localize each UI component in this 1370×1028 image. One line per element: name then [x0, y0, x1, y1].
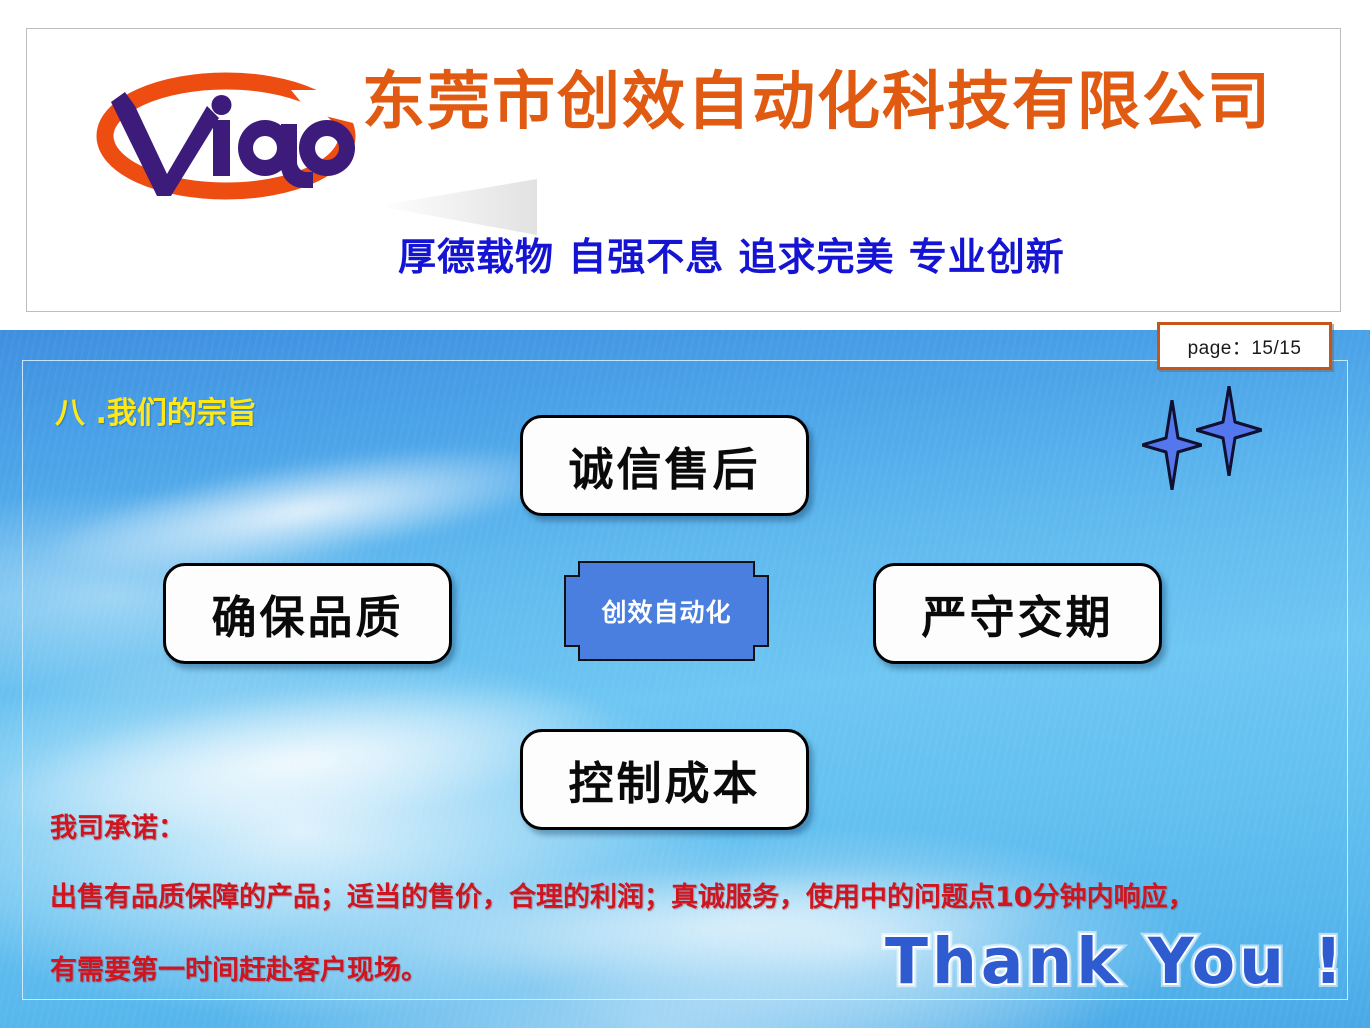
sparkle-star-icon-2	[1196, 386, 1262, 476]
section-heading: 八 .我们的宗旨	[55, 388, 257, 432]
diagram-center-label: 创效自动化	[601, 593, 731, 629]
watermark-arrow-icon	[377, 179, 537, 235]
diagram-node-left-label: 确保品质	[211, 581, 403, 646]
diagram-node-top-label: 诚信售后	[568, 433, 760, 498]
diagram-node-top[interactable]: 诚信售后	[520, 415, 809, 516]
diagram-node-bottom[interactable]: 控制成本	[520, 729, 809, 830]
promise-heading: 我司承诺：	[50, 806, 185, 845]
promise-line-1: 出售有品质保障的产品；适当的售价，合理的利润；真诚服务，使用中的问题点10分钟内…	[50, 875, 1195, 914]
promise-line-1-part-b: 分钟内响应，	[1033, 882, 1195, 913]
promise-response-minutes: 10	[995, 882, 1033, 913]
page-indicator-label: page：15/15	[1188, 333, 1302, 360]
viao-logo	[95, 72, 357, 200]
promise-line-2: 有需要第一时间赶赴客户现场。	[50, 948, 428, 987]
diagram-node-bottom-label: 控制成本	[568, 747, 760, 812]
diagram-node-right-label: 严守交期	[921, 581, 1113, 646]
thank-you-text: Thank You !	[885, 925, 1347, 998]
sparkle-star-icon	[1142, 400, 1202, 490]
diagram-node-left[interactable]: 确保品质	[163, 563, 452, 664]
diagram-node-right[interactable]: 严守交期	[873, 563, 1162, 664]
company-slogan: 厚德载物 自强不息 追求完美 专业创新	[398, 238, 1065, 276]
slide-root: 东莞市创效自动化科技有限公司 厚德载物 自强不息 追求完美 专业创新 page：…	[0, 0, 1370, 1028]
page-indicator-badge: page：15/15	[1157, 322, 1332, 370]
company-name-title: 东莞市创效自动化科技有限公司	[362, 70, 1272, 133]
diagram-center-node[interactable]: 创效自动化	[566, 563, 767, 659]
promise-line-1-part-a: 出售有品质保障的产品；适当的售价，合理的利润；真诚服务，使用中的问题点	[50, 882, 995, 913]
